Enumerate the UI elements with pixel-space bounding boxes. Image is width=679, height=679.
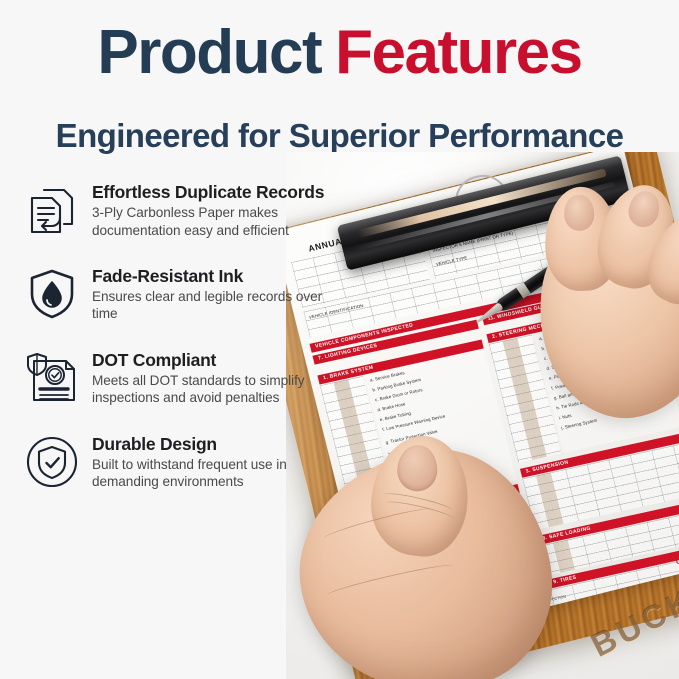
- feature-text: Effortless Duplicate Records 3-Ply Carbo…: [92, 180, 337, 239]
- knuckle-crease: [325, 561, 454, 600]
- feature-list: Effortless Duplicate Records 3-Ply Carbo…: [0, 180, 345, 516]
- shield-check-circle-icon: [24, 434, 80, 490]
- feature-description: 3-Ply Carbonless Paper makes documentati…: [92, 204, 337, 239]
- thumbnail: [396, 444, 438, 492]
- page-title-accent: Features: [335, 18, 581, 87]
- feature-description: Ensures clear and legible records over t…: [92, 288, 337, 323]
- shield-ink-drop-icon: [24, 266, 80, 322]
- fingernail: [564, 194, 595, 231]
- compliance-document-shield-icon: [24, 350, 80, 406]
- feature-item: Durable Design Built to withstand freque…: [0, 432, 345, 491]
- feature-item: DOT Compliant Meets all DOT standards to…: [0, 348, 345, 407]
- feature-item: Fade-Resistant Ink Ensures clear and leg…: [0, 264, 345, 323]
- feature-text: Fade-Resistant Ink Ensures clear and leg…: [92, 264, 337, 323]
- feature-description: Built to withstand frequent use in deman…: [92, 456, 337, 491]
- fingernail: [625, 188, 663, 230]
- feature-title: DOT Compliant: [92, 350, 337, 370]
- feature-title: Fade-Resistant Ink: [92, 266, 337, 286]
- feature-title: Durable Design: [92, 434, 337, 454]
- feature-text: DOT Compliant Meets all DOT standards to…: [92, 348, 337, 407]
- page-title-primary: Product: [97, 18, 321, 87]
- page-subtitle: Engineered for Superior Performance: [0, 118, 679, 154]
- feature-description: Meets all DOT standards to simplify insp…: [92, 372, 337, 407]
- feature-title: Effortless Duplicate Records: [92, 182, 337, 202]
- page-title: ProductFeatures: [0, 22, 679, 84]
- feature-item: Effortless Duplicate Records 3-Ply Carbo…: [0, 180, 345, 239]
- duplicate-documents-icon: [24, 182, 80, 238]
- feature-text: Durable Design Built to withstand freque…: [92, 432, 337, 491]
